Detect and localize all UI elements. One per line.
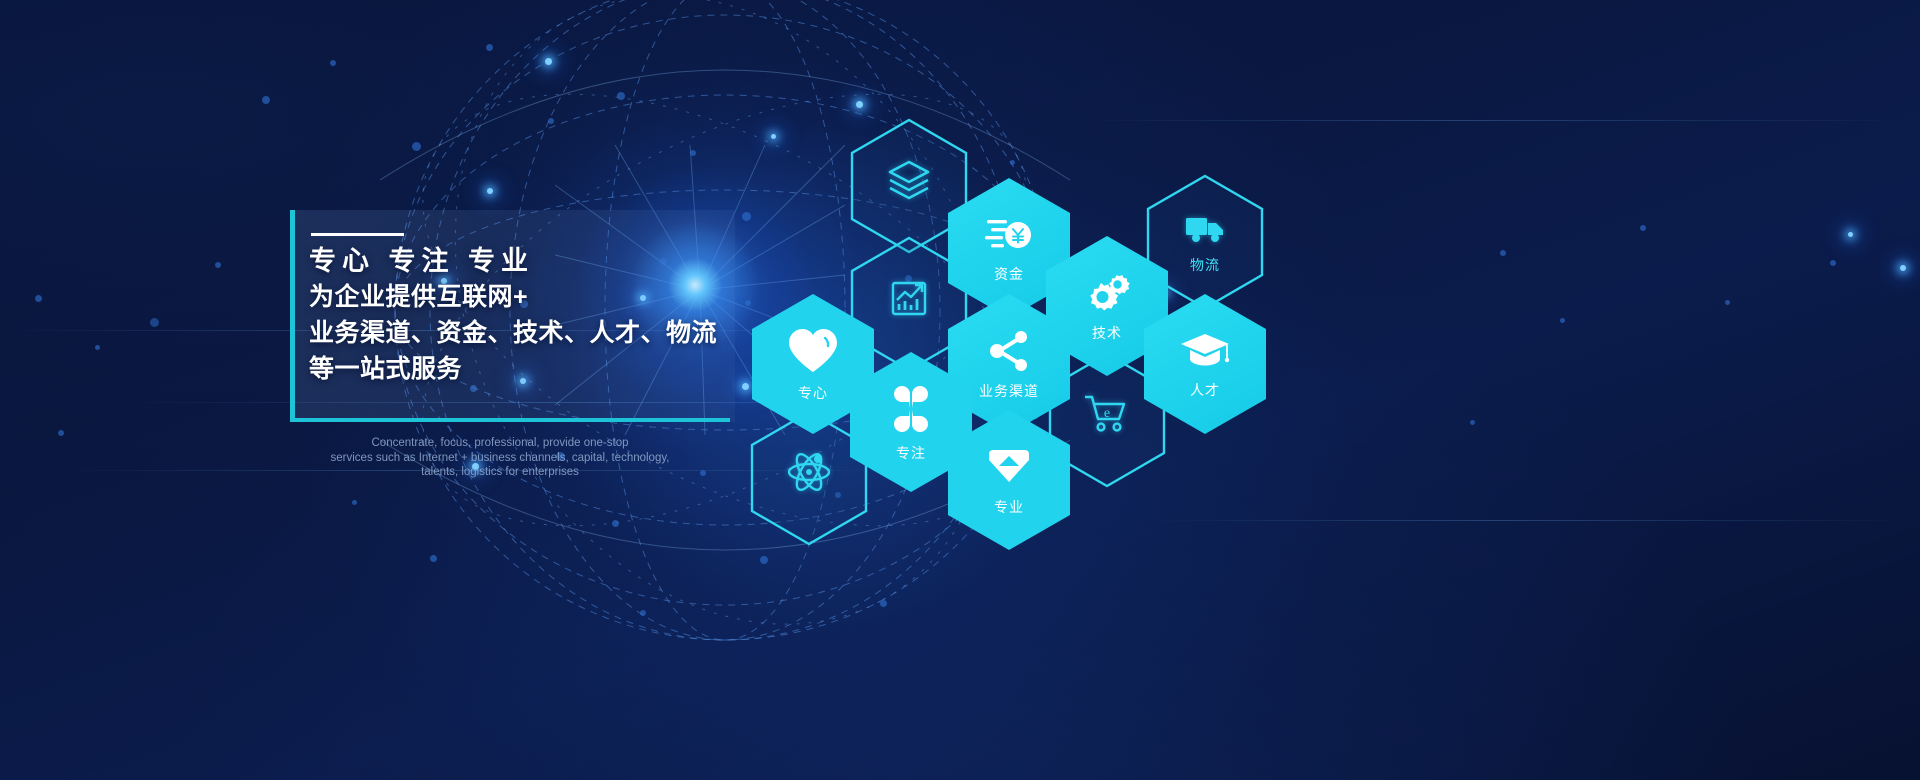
hexagon-label-capital: 资金: [994, 267, 1024, 281]
layers-icon: [885, 156, 933, 209]
panel-bottom-rule: [290, 418, 730, 422]
subtitle-line-3: talents, logistics for enterprises: [300, 465, 700, 480]
subtitle-english: Concentrate, focus, professional, provid…: [300, 436, 700, 480]
hexagon-label-focus: 专注: [896, 446, 926, 460]
hexagon-label-professional: 专业: [994, 500, 1024, 514]
graduation-cap-icon: [1179, 331, 1231, 376]
heart-icon: [787, 328, 839, 379]
shopping-cart-icon: e: [1082, 393, 1132, 440]
hero-banner: 专心 专注 专业 为企业提供互联网+ 业务渠道、资金、技术、人才、物流 等一站式…: [0, 0, 1920, 780]
hexagon-label-talent: 人才: [1190, 383, 1220, 397]
headline-line-1: 专心 专注 专业: [309, 243, 779, 279]
headline-line-2: 为企业提供互联网+: [309, 279, 779, 315]
yen-coin-icon: [985, 215, 1033, 260]
headline-dash-rule: [311, 233, 404, 236]
atom-icon: [785, 448, 833, 501]
share-nodes-icon: [987, 330, 1031, 377]
hexagon-label-logistics: 物流: [1190, 258, 1220, 272]
headline-line-4: 等一站式服务: [309, 351, 779, 387]
hexagon-label-dedication: 专心: [798, 386, 828, 400]
page-title: 专心 专注 专业 为企业提供互联网+ 业务渠道、资金、技术、人才、物流 等一站式…: [309, 243, 779, 387]
hexagon-label-technology: 技术: [1092, 326, 1122, 340]
clover-icon: [886, 384, 936, 439]
diamond-icon: [987, 446, 1031, 493]
hexagon-label-business-channels: 业务渠道: [979, 384, 1039, 398]
chart-growth-icon: [886, 275, 932, 326]
gears-icon: [1084, 272, 1130, 319]
subtitle-line-2: services such as Internet + business cha…: [300, 451, 700, 466]
subtitle-line-1: Concentrate, focus, professional, provid…: [300, 436, 700, 451]
svg-text:e: e: [1104, 406, 1110, 421]
headline-line-3: 业务渠道、资金、技术、人才、物流: [309, 315, 779, 351]
truck-icon: [1184, 212, 1226, 251]
